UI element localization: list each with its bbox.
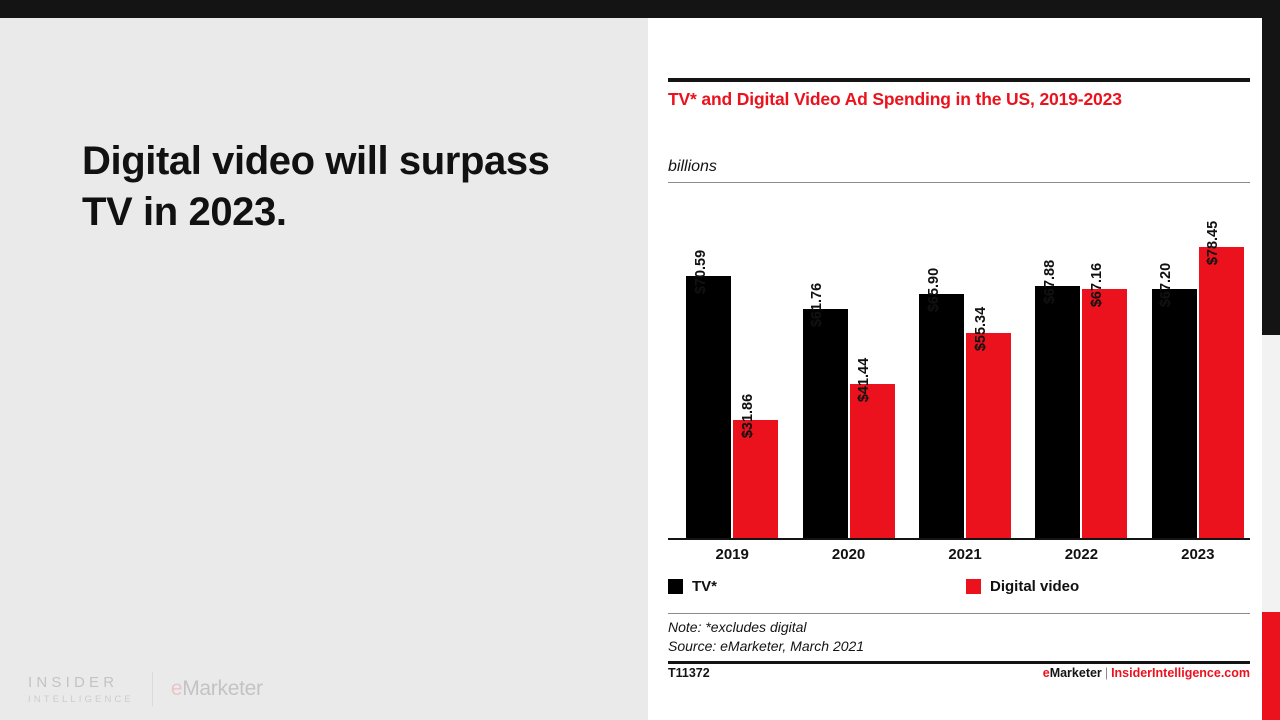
bar-tv[interactable]: $61.76 <box>803 309 848 538</box>
chart-panel: TV* and Digital Video Ad Spending in the… <box>648 18 1262 720</box>
bar-value-label: $31.86 <box>740 394 756 438</box>
chart-notes-rule <box>668 613 1250 614</box>
bar-value-label: $67.20 <box>1158 263 1174 307</box>
attribution-separator: | <box>1102 666 1111 680</box>
bar-value-label: $41.44 <box>856 358 872 402</box>
attribution-website[interactable]: InsiderIntelligence.com <box>1111 666 1250 680</box>
bar-group: $67.20$78.45 <box>1152 188 1244 538</box>
legend-item-digital-video[interactable]: Digital video <box>966 578 1079 595</box>
attribution-emarketer-rest: Marketer <box>1050 666 1102 680</box>
bar-tv[interactable]: $70.59 <box>686 276 731 538</box>
bar-group: $65.90$55.34 <box>919 188 1011 538</box>
bar-value-label: $55.34 <box>973 307 989 351</box>
bar-group: $67.88$67.16 <box>1035 188 1127 538</box>
bar-digital-video[interactable]: $67.16 <box>1082 289 1127 538</box>
brand-logo-lockup: INSIDER INTELLIGENCE eMarketer <box>28 672 263 706</box>
legend-item-tv[interactable]: TV* <box>668 578 717 595</box>
chart-footer-rule <box>668 661 1250 664</box>
insider-logo-line2: INTELLIGENCE <box>28 694 134 705</box>
right-edge-strip-black <box>1262 18 1280 335</box>
chart-baseline-axis <box>668 538 1250 540</box>
x-axis-tick-label: 2023 <box>1152 546 1244 563</box>
page-title: Digital video will surpass TV in 2023. <box>82 136 582 238</box>
slide-canvas: Digital video will surpass TV in 2023. I… <box>0 0 1280 720</box>
bar-group: $70.59$31.86 <box>686 188 778 538</box>
bar-tv[interactable]: $67.20 <box>1152 289 1197 538</box>
chart-notes: Note: *excludes digital Source: eMarkete… <box>668 618 864 656</box>
x-axis-tick-label: 2019 <box>686 546 778 563</box>
emarketer-logo-rest: Marketer <box>182 677 262 700</box>
bar-value-label: $67.16 <box>1089 263 1105 307</box>
bar-digital-video[interactable]: $41.44 <box>850 384 895 538</box>
bar-digital-video[interactable]: $55.34 <box>966 333 1011 538</box>
logo-divider <box>152 672 153 706</box>
chart-legend: TV*Digital video <box>668 578 1250 606</box>
bar-tv[interactable]: $67.88 <box>1035 286 1080 538</box>
chart-title: TV* and Digital Video Ad Spending in the… <box>668 88 1250 111</box>
chart-x-axis-labels: 20192020202120222023 <box>668 546 1250 570</box>
bar-digital-video[interactable]: $78.45 <box>1199 247 1244 538</box>
bar-value-label: $61.76 <box>809 283 825 327</box>
bar-tv[interactable]: $65.90 <box>919 294 964 538</box>
chart-id: T11372 <box>668 666 710 680</box>
chart-top-rule <box>668 78 1250 82</box>
chart-subtitle: billions <box>668 158 717 176</box>
right-edge-strip-red <box>1262 612 1280 720</box>
chart-plot-area: $70.59$31.86$61.76$41.44$65.90$55.34$67.… <box>668 188 1250 540</box>
bar-value-label: $65.90 <box>926 267 942 311</box>
legend-swatch <box>668 579 683 594</box>
chart-source-line: Source: eMarketer, March 2021 <box>668 637 864 656</box>
bar-value-label: $70.59 <box>693 250 709 294</box>
insider-intelligence-logo: INSIDER INTELLIGENCE <box>28 674 134 705</box>
headline-panel: Digital video will surpass TV in 2023. I… <box>0 18 648 720</box>
legend-label: Digital video <box>990 578 1079 595</box>
legend-label: TV* <box>692 578 717 595</box>
bar-value-label: $67.88 <box>1042 260 1058 304</box>
x-axis-tick-label: 2022 <box>1035 546 1127 563</box>
attribution-emarketer-e: e <box>1043 666 1050 680</box>
legend-swatch <box>966 579 981 594</box>
chart-note-line: Note: *excludes digital <box>668 618 864 637</box>
right-edge-strip-gray <box>1262 335 1280 612</box>
chart-attribution: eMarketer|InsiderIntelligence.com <box>1043 666 1250 680</box>
bar-digital-video[interactable]: $31.86 <box>733 420 778 538</box>
insider-logo-line1: INSIDER <box>28 674 134 691</box>
chart-footer: T11372 eMarketer|InsiderIntelligence.com <box>668 666 1250 680</box>
bar-value-label: $78.45 <box>1205 221 1221 265</box>
top-accent-bar <box>0 0 1280 18</box>
x-axis-tick-label: 2021 <box>919 546 1011 563</box>
bar-group: $61.76$41.44 <box>803 188 895 538</box>
chart-header-rule <box>668 182 1250 183</box>
emarketer-logo-e: e <box>171 677 182 700</box>
x-axis-tick-label: 2020 <box>803 546 895 563</box>
emarketer-logo: eMarketer <box>171 677 263 701</box>
